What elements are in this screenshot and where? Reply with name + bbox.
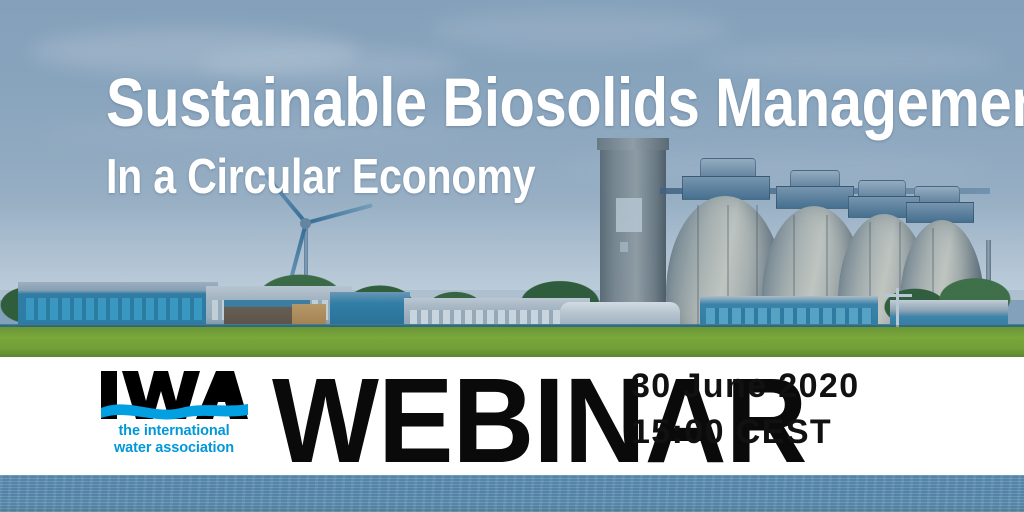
event-datetime: 30 June 2020 15:00 CEST	[631, 363, 860, 455]
iwa-tagline-line-1: the international	[118, 423, 229, 439]
grass-field	[0, 327, 1024, 357]
tower-window	[620, 242, 628, 252]
title-line-2: In a Circular Economy	[106, 153, 1024, 202]
iwa-tagline: the international water association	[100, 423, 248, 457]
plant-building	[18, 282, 218, 328]
poster-title: Sustainable Biosolids Management In a Ci…	[106, 68, 1024, 202]
building-windows	[26, 298, 210, 320]
tower-window	[616, 198, 642, 232]
iwa-tagline-line-2: water association	[114, 440, 234, 456]
webinar-poster: Sustainable Biosolids Management In a Ci…	[0, 0, 1024, 512]
event-time: 15:00 CEST	[631, 409, 860, 455]
iwa-logo: the international water association	[98, 369, 248, 465]
building-windows	[706, 308, 872, 324]
event-date: 30 June 2020	[631, 363, 860, 409]
turbine-hub	[300, 218, 311, 229]
building-windows	[410, 310, 584, 324]
water-strip	[0, 475, 1024, 512]
turbine-blade	[305, 203, 372, 225]
cloud	[430, 10, 730, 50]
iwa-logo-mark	[98, 369, 248, 421]
title-line-1: Sustainable Biosolids Management	[106, 68, 1024, 137]
info-bar: the international water association WEBI…	[0, 357, 1024, 475]
